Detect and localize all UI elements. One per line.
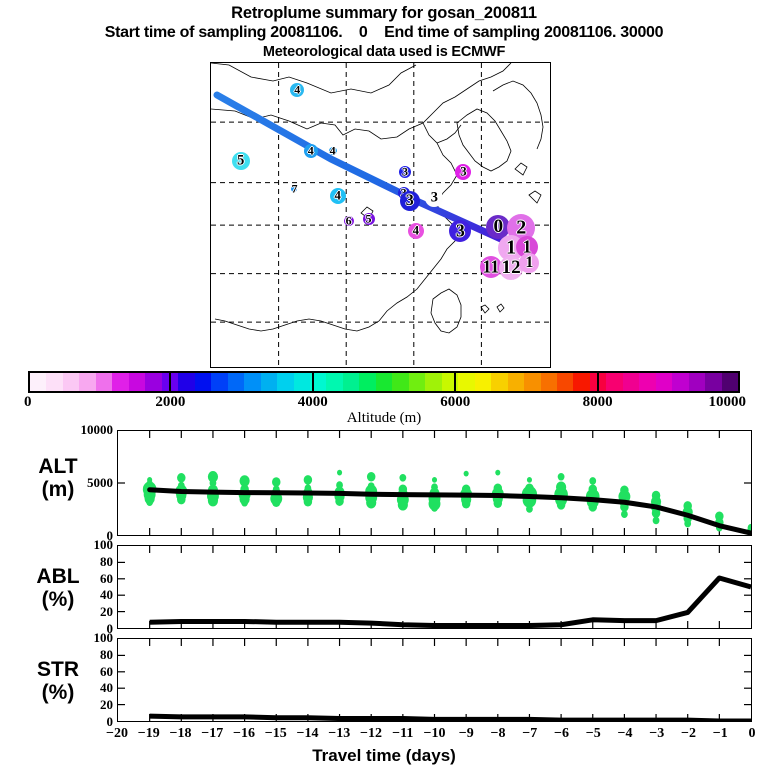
colorbar-swatch	[623, 373, 639, 391]
abl-plot-graphics	[118, 546, 751, 628]
colorbar-swatch	[261, 373, 277, 391]
colorbar-tick-label: 0	[24, 394, 32, 411]
x-tick-label: −17	[201, 726, 223, 742]
colorbar-swatch	[524, 373, 540, 391]
map-cluster-label: 4	[330, 143, 336, 158]
alt-y-tick-labels: 0500010000	[66, 430, 113, 536]
y-tick-label: 5000	[87, 475, 113, 491]
colorbar-swatch	[705, 373, 721, 391]
alt-plot-graphics	[118, 431, 751, 535]
map-cluster-label: 3	[406, 192, 414, 210]
y-tick-label: 80	[100, 647, 113, 663]
map-cluster-label: 6	[346, 213, 352, 228]
travel-time-tick-labels: −20−19−18−17−16−15−14−13−12−11−10−9−8−7−…	[0, 726, 768, 744]
colorbar-axis-title: Altitude (m)	[0, 410, 768, 427]
str-plot-graphics	[118, 639, 751, 721]
x-tick-label: −8	[491, 726, 506, 742]
colorbar-swatch	[96, 373, 112, 391]
colorbar-swatch	[557, 373, 573, 391]
x-tick-label: −15	[265, 726, 287, 742]
map-cluster-label: 3	[460, 165, 466, 180]
colorbar-swatch	[326, 373, 342, 391]
map-cluster-label: 3	[431, 189, 438, 206]
colorbar-swatch	[195, 373, 211, 391]
colorbar-swatch	[722, 373, 738, 391]
colorbar-tick-label: 8000	[583, 394, 613, 411]
colorbar-swatch	[409, 373, 425, 391]
colorbar-swatch	[211, 373, 227, 391]
colorbar-swatch	[129, 373, 145, 391]
str-y-tick-labels: 020406080100	[66, 638, 113, 722]
str-chart[interactable]	[117, 638, 752, 722]
colorbar-swatch	[145, 373, 161, 391]
colorbar-swatch	[30, 373, 46, 391]
colorbar-swatch	[112, 373, 128, 391]
title-block: Retroplume summary for gosan_200811 Star…	[0, 0, 768, 61]
map-cluster-label: 4	[294, 83, 300, 98]
colorbar-divider	[312, 371, 314, 393]
x-tick-label: −1	[713, 726, 728, 742]
colorbar-swatch	[425, 373, 441, 391]
colorbar-swatch	[656, 373, 672, 391]
colorbar-divider	[169, 371, 171, 393]
x-tick-label: −3	[649, 726, 664, 742]
map-cluster-label: 5	[366, 212, 372, 227]
y-tick-label: 40	[100, 587, 113, 603]
colorbar-tick-label: 4000	[298, 394, 328, 411]
alt-chart[interactable]	[117, 430, 752, 536]
colorbar-swatch	[573, 373, 589, 391]
x-tick-label: −20	[106, 726, 128, 742]
y-tick-label: 20	[100, 697, 113, 713]
y-tick-label: 80	[100, 554, 113, 570]
x-tick-label: −5	[586, 726, 601, 742]
x-tick-label: −12	[360, 726, 382, 742]
colorbar-swatch	[178, 373, 194, 391]
map-cluster-label: 11	[483, 256, 500, 277]
map-cluster-label: 1	[525, 254, 533, 272]
met-data-line: Meteorological data used is ECMWF	[0, 43, 768, 61]
map-cluster-label: 3	[402, 165, 408, 180]
abl-chart[interactable]	[117, 545, 752, 629]
x-tick-label: −2	[681, 726, 696, 742]
map-cluster-label: 12	[502, 257, 521, 279]
colorbar-swatch	[475, 373, 491, 391]
colorbar-divider	[597, 371, 599, 393]
colorbar-swatch	[376, 373, 392, 391]
colorbar-swatch	[392, 373, 408, 391]
x-tick-label: −9	[459, 726, 474, 742]
colorbar-swatch	[458, 373, 474, 391]
x-tick-label: −4	[618, 726, 633, 742]
map-cluster-label: 0	[494, 216, 504, 238]
colorbar-swatch	[672, 373, 688, 391]
colorbar-swatch	[79, 373, 95, 391]
y-tick-label: 40	[100, 680, 113, 696]
colorbar-swatch	[606, 373, 622, 391]
colorbar-swatch	[244, 373, 260, 391]
colorbar-tick-label: 10000	[709, 394, 747, 411]
x-tick-label: −7	[522, 726, 537, 742]
x-tick-label: −18	[170, 726, 192, 742]
x-tick-label: −13	[328, 726, 350, 742]
colorbar-tick-label: 2000	[155, 394, 185, 411]
colorbar-tick-label: 6000	[440, 394, 470, 411]
map-cluster-label: 4	[308, 143, 314, 158]
sampling-time-line: Start time of sampling 20081106. 0 End t…	[0, 23, 768, 43]
y-tick-label: 20	[100, 604, 113, 620]
abl-y-tick-labels: 020406080100	[66, 545, 113, 629]
x-tick-label: −6	[554, 726, 569, 742]
x-tick-label: −11	[392, 726, 413, 742]
colorbar-swatch	[359, 373, 375, 391]
map-cluster-label: 5	[237, 153, 244, 170]
colorbar-swatch	[541, 373, 557, 391]
colorbar-swatch	[491, 373, 507, 391]
map-cluster-label: 4	[335, 188, 341, 203]
altitude-colorbar	[28, 371, 740, 393]
y-tick-label: 60	[100, 571, 113, 587]
map-cluster-label: 7	[291, 181, 297, 196]
colorbar-swatch	[508, 373, 524, 391]
map-cluster-label: 3	[456, 220, 465, 241]
x-axis-title: Travel time (days)	[0, 746, 768, 766]
colorbar-swatch	[46, 373, 62, 391]
y-tick-label: 100	[94, 630, 114, 646]
map-cluster-label: 4	[413, 224, 419, 239]
colorbar-swatch	[639, 373, 655, 391]
x-tick-label: −19	[138, 726, 160, 742]
x-tick-label: 0	[749, 726, 756, 742]
y-tick-label: 60	[100, 664, 113, 680]
y-tick-label: 100	[94, 537, 114, 553]
retroplume-map[interactable]: 454474653333343021111121	[210, 62, 551, 368]
colorbar-swatch	[63, 373, 79, 391]
x-tick-label: −16	[233, 726, 255, 742]
colorbar-swatch	[343, 373, 359, 391]
colorbar-swatch	[277, 373, 293, 391]
page-title: Retroplume summary for gosan_200811	[0, 4, 768, 23]
colorbar-swatch	[228, 373, 244, 391]
x-tick-label: −10	[424, 726, 446, 742]
y-tick-label: 10000	[81, 422, 114, 438]
colorbar-swatch	[689, 373, 705, 391]
x-tick-label: −14	[297, 726, 319, 742]
colorbar-swatch	[294, 373, 310, 391]
colorbar-divider	[454, 371, 456, 393]
